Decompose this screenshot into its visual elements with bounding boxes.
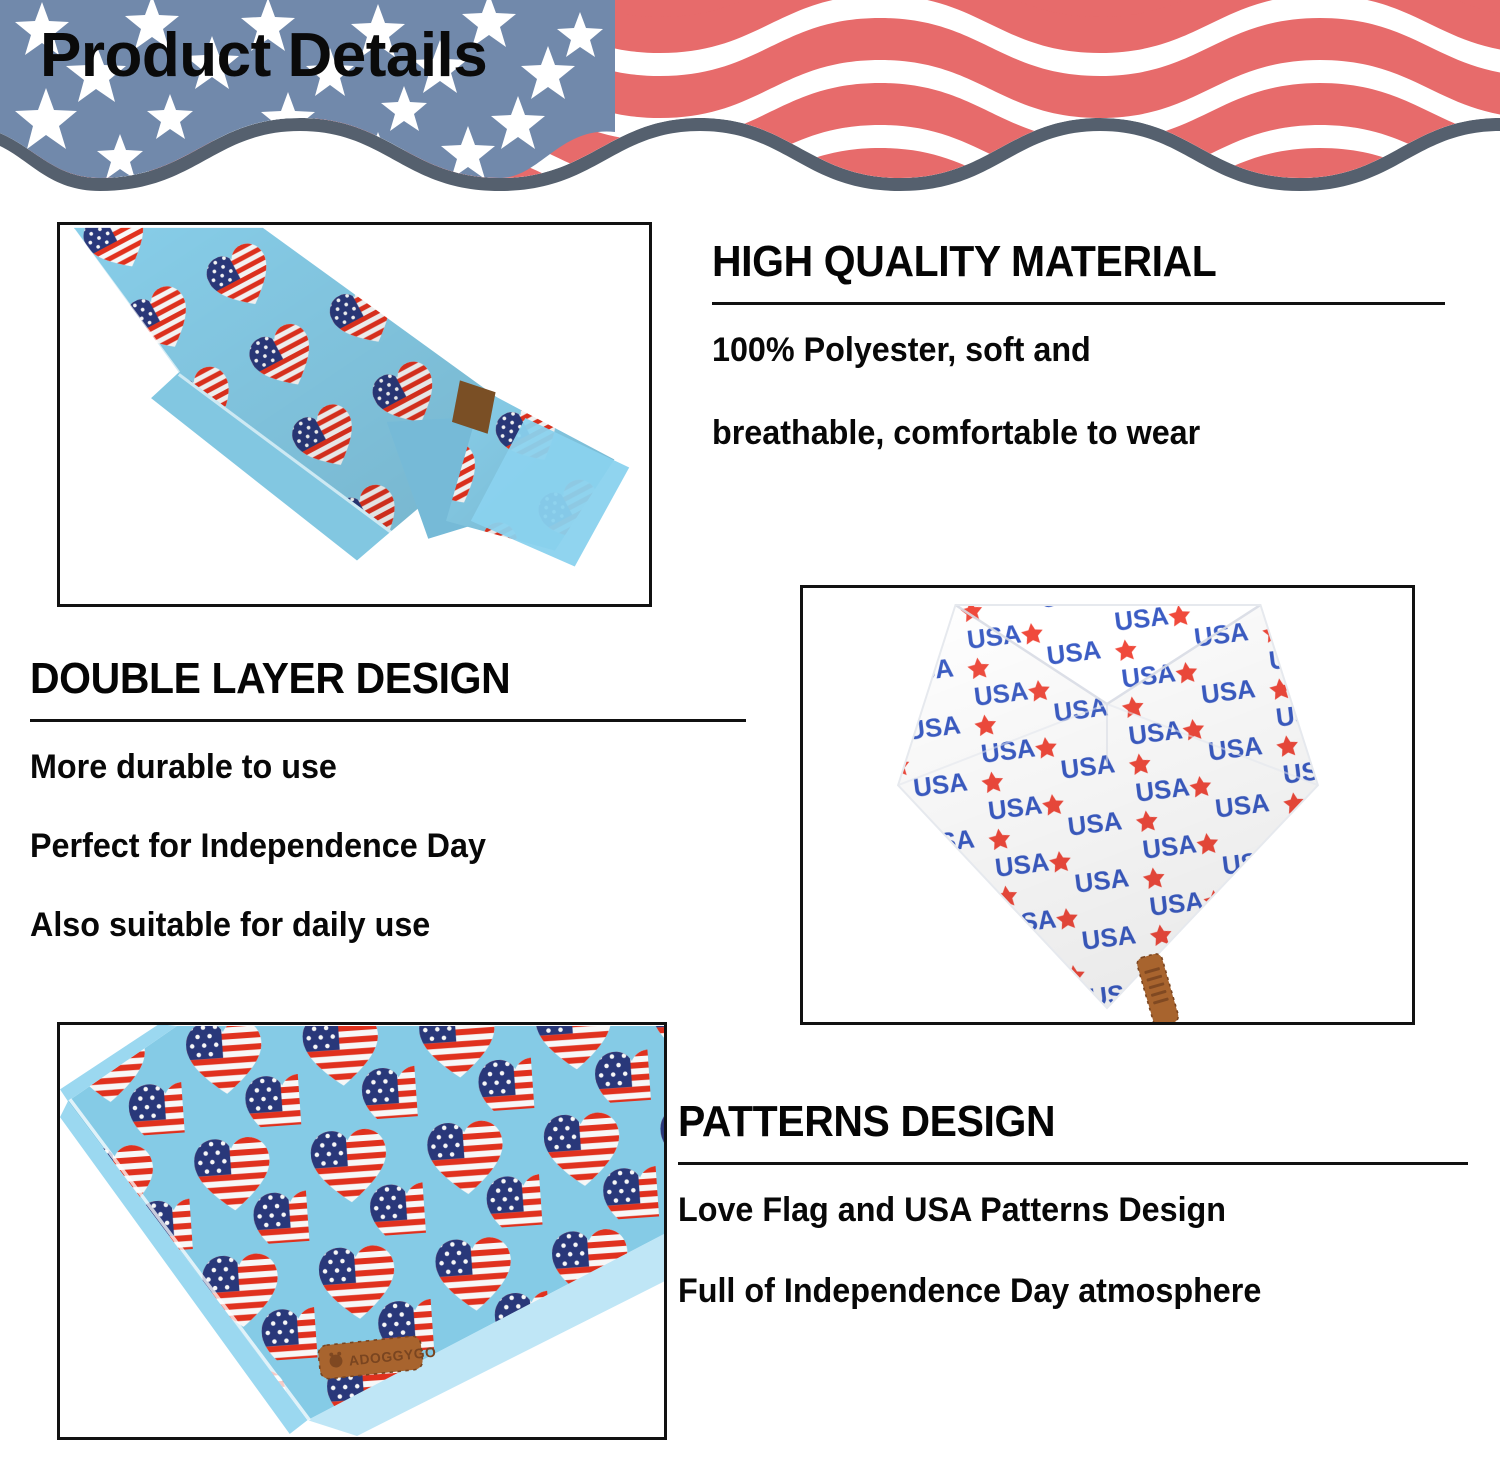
flag-banner: Product Details <box>0 0 1500 200</box>
section-lines-material: 100% Polyester, soft and breathable, com… <box>712 331 1448 453</box>
product-photo-usa-bandana: USA USA <box>800 585 1415 1025</box>
usa-bandana-illustration: USA USA <box>803 588 1412 1022</box>
photo-hearts-inner: ADOGGYGO <box>60 1025 664 1437</box>
hearts-bandana-illustration: ADOGGYGO <box>60 1025 664 1437</box>
section-divider-patterns <box>678 1162 1468 1165</box>
photo-usa-inner: USA USA <box>803 588 1412 1022</box>
section-divider-material <box>712 302 1445 305</box>
section-line: 100% Polyester, soft and <box>712 331 1411 370</box>
section-lines-double-layer: More durable to use Perfect for Independ… <box>30 748 746 945</box>
section-heading-double-layer: DOUBLE LAYER DESIGN <box>30 655 696 703</box>
page-title: Product Details <box>40 20 487 91</box>
section-line: Also suitable for daily use <box>30 906 710 945</box>
product-photo-hearts-bandana: ADOGGYGO <box>57 1022 667 1440</box>
section-line: Love Flag and USA Patterns Design <box>678 1191 1440 1230</box>
section-line: Perfect for Independence Day <box>30 827 710 866</box>
section-high-quality-material: HIGH QUALITY MATERIAL 100% Polyester, so… <box>712 238 1448 497</box>
section-line: More durable to use <box>30 748 710 787</box>
folded-bandana-illustration <box>60 225 649 604</box>
section-lines-patterns: Love Flag and USA Patterns Design Full o… <box>678 1191 1480 1311</box>
product-details-page: Product Details <box>0 0 1500 1459</box>
section-heading-patterns: PATTERNS DESIGN <box>678 1098 1424 1146</box>
section-line: Full of Independence Day atmosphere <box>678 1272 1440 1311</box>
section-patterns-design: PATTERNS DESIGN Love Flag and USA Patter… <box>678 1098 1480 1353</box>
section-double-layer-design: DOUBLE LAYER DESIGN More durable to use … <box>30 655 746 985</box>
section-line: breathable, comfortable to wear <box>712 414 1411 453</box>
product-photo-folded-bandana <box>57 222 652 607</box>
photo-folded-inner <box>60 225 649 604</box>
section-heading-material: HIGH QUALITY MATERIAL <box>712 238 1396 286</box>
section-divider-double-layer <box>30 719 746 722</box>
